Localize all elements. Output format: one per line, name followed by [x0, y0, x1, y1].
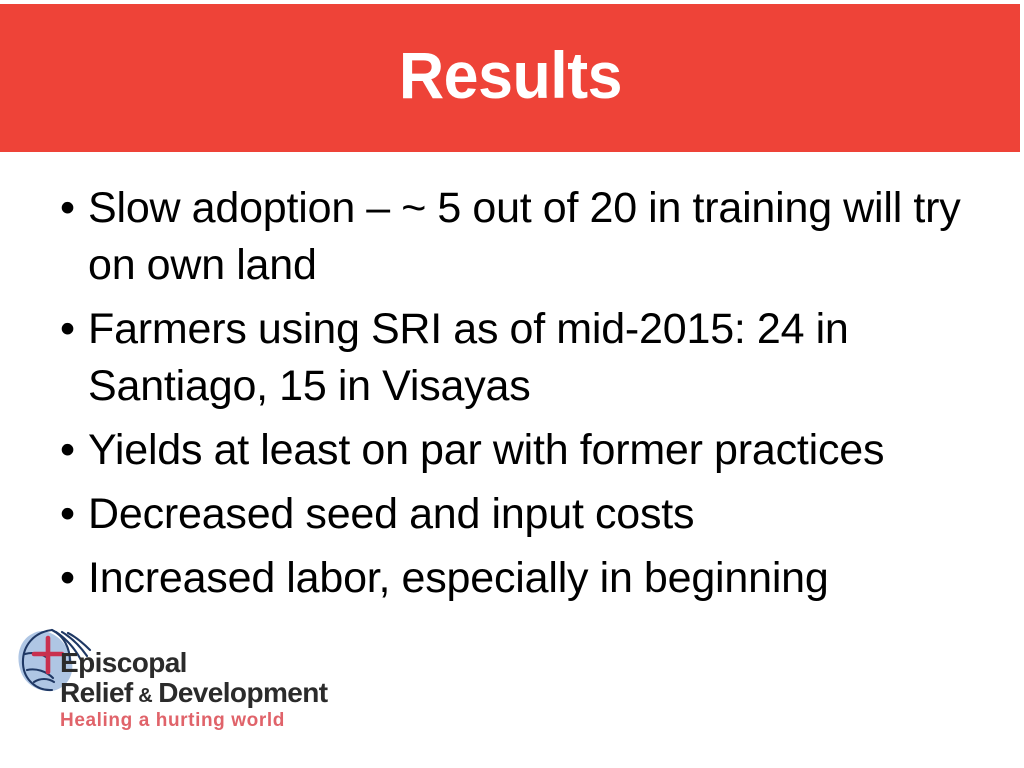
list-item: • Slow adoption – ~ 5 out of 20 in train… [52, 180, 982, 294]
title-banner: Results [0, 4, 1020, 152]
logo-wordmark: Episcopal Relief & Development [60, 648, 306, 711]
list-item: • Yields at least on par with former pra… [52, 422, 982, 479]
list-item-text: Yields at least on par with former pract… [88, 422, 982, 479]
bullet-point-icon: • [52, 180, 88, 237]
list-item: • Increased labor, especially in beginni… [52, 550, 982, 607]
bullet-point-icon: • [52, 550, 88, 607]
list-item: • Farmers using SRI as of mid-2015: 24 i… [52, 301, 982, 415]
list-item-text: Increased labor, especially in beginning [88, 550, 982, 607]
organization-logo: Episcopal Relief & Development Healing a… [12, 622, 302, 738]
logo-line-2: Relief & Development [60, 678, 306, 711]
logo-line-1: Episcopal [60, 648, 306, 678]
list-item-text: Farmers using SRI as of mid-2015: 24 in … [88, 301, 982, 415]
list-item-text: Slow adoption – ~ 5 out of 20 in trainin… [88, 180, 982, 294]
logo-relief-text: Relief [60, 677, 133, 708]
logo-ampersand: & [133, 685, 159, 707]
bullet-list: • Slow adoption – ~ 5 out of 20 in train… [52, 180, 982, 614]
slide-canvas: Results • Slow adoption – ~ 5 out of 20 … [0, 0, 1024, 768]
list-item-text: Decreased seed and input costs [88, 486, 982, 543]
page-title: Results [398, 42, 621, 114]
bullet-point-icon: • [52, 486, 88, 543]
bullet-point-icon: • [52, 301, 88, 358]
logo-development-text: Development [158, 677, 327, 708]
list-item: • Decreased seed and input costs [52, 486, 982, 543]
bullet-point-icon: • [52, 422, 88, 479]
logo-tagline: Healing a hurting world [60, 710, 285, 732]
